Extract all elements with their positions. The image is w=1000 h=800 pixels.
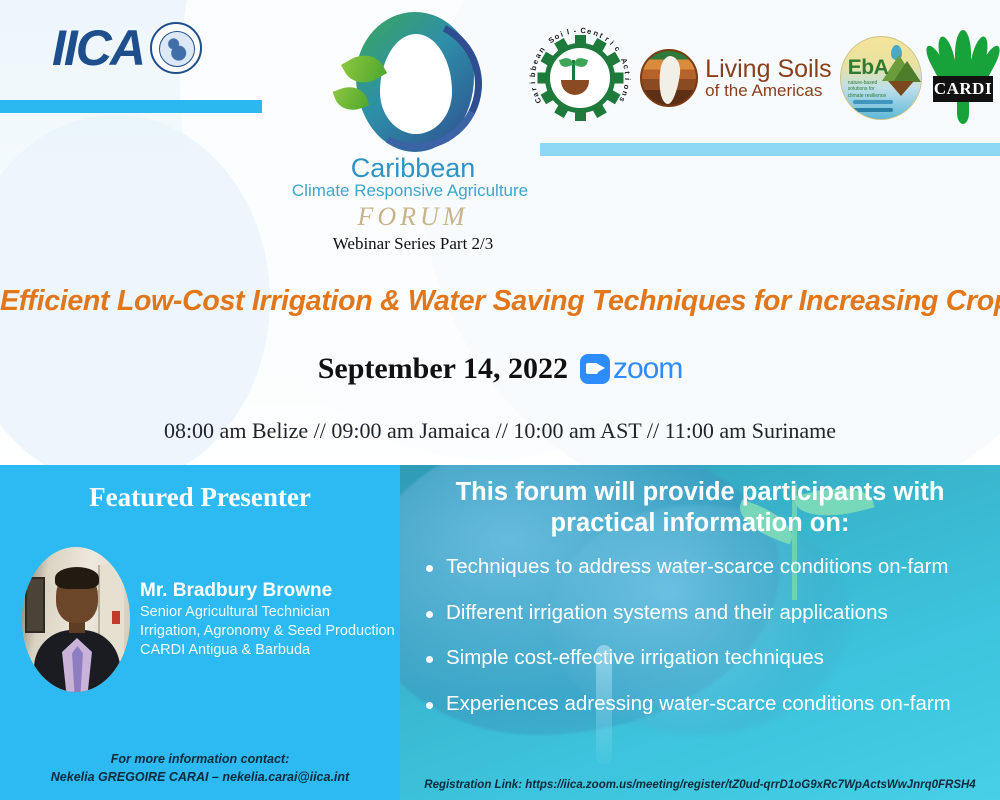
water-drop-leaf-icon bbox=[328, 8, 498, 158]
presenter-name: Mr. Bradbury Browne bbox=[140, 579, 395, 603]
partner-logo-eba: EbA nature-based solutions for climate r… bbox=[840, 36, 922, 120]
zoom-video-icon bbox=[580, 354, 610, 384]
contact-block: For more information contact: Nekelia GR… bbox=[0, 750, 400, 786]
page-title: Efficient Low-Cost Irrigation & Water Sa… bbox=[0, 285, 1000, 318]
presenter-section-heading: Featured Presenter bbox=[0, 482, 400, 513]
forum-logo-line3: FORUM bbox=[288, 201, 538, 232]
presenter-title: Senior Agricultural Technician bbox=[140, 603, 395, 622]
list-item: Simple cost-effective irrigation techniq… bbox=[422, 646, 994, 671]
forum-logo-line1: Caribbean bbox=[288, 154, 538, 182]
forum-logo: Caribbean Climate Responsive Agriculture… bbox=[288, 8, 538, 254]
iica-logo: IICA bbox=[52, 22, 202, 74]
list-item: Experiences adressing water-scarce condi… bbox=[422, 692, 994, 717]
eba-tagline: nature-based solutions for climate resil… bbox=[848, 80, 888, 99]
eba-wordmark: EbA bbox=[848, 56, 889, 80]
webinar-flyer: IICA Caribbean Climate Responsive Agricu… bbox=[0, 0, 1000, 800]
presenter-body: Mr. Bradbury Browne Senior Agricultural … bbox=[22, 547, 395, 692]
accent-bar-right bbox=[540, 143, 1000, 156]
iica-wordmark: IICA bbox=[52, 23, 144, 73]
partner-logo-caribbean-soil-centric-actions: Caribbean Soil-Centric Actions bbox=[528, 26, 632, 130]
info-panel: This forum will provide participants wit… bbox=[400, 465, 1000, 800]
list-item: Different irrigation systems and their a… bbox=[422, 601, 994, 626]
presenter-specialty: Irrigation, Agronomy & Seed Production bbox=[140, 622, 395, 641]
living-soils-line1: Living Soils bbox=[705, 57, 831, 83]
living-soils-line2: of the Americas bbox=[705, 82, 831, 99]
accent-bar-left bbox=[0, 100, 262, 113]
avatar bbox=[22, 547, 130, 692]
presenter-panel: Featured Presenter Mr. Bradbury Browne S… bbox=[0, 465, 400, 800]
partner-circular-text: Caribbean Soil-Centric Actions bbox=[528, 26, 632, 130]
event-date: September 14, 2022 bbox=[318, 352, 568, 386]
presenter-affiliation: CARDI Antigua & Barbuda bbox=[140, 641, 395, 660]
partner-logo-living-soils: Living Soils of the Americas bbox=[640, 49, 831, 107]
partner-logos: Caribbean Soil-Centric Actions Living So… bbox=[528, 22, 996, 134]
presenter-info: Mr. Bradbury Browne Senior Agricultural … bbox=[140, 579, 395, 660]
event-date-row: September 14, 2022 zoom bbox=[0, 352, 1000, 386]
info-bullet-list: Techniques to address water-scarce condi… bbox=[400, 555, 1000, 716]
contact-label: For more information contact: bbox=[0, 750, 400, 768]
list-item: Techniques to address water-scarce condi… bbox=[422, 555, 994, 580]
zoom-wordmark: zoom bbox=[613, 352, 682, 386]
registration-link[interactable]: Registration Link: https://iica.zoom.us/… bbox=[400, 779, 1000, 791]
info-heading: This forum will provide participants wit… bbox=[400, 465, 1000, 539]
forum-logo-subtitle: Webinar Series Part 2/3 bbox=[288, 234, 538, 254]
globe-icon bbox=[150, 22, 202, 74]
cardi-wordmark: CARDI bbox=[933, 76, 993, 102]
event-times: 08:00 am Belize // 09:00 am Jamaica // 1… bbox=[0, 418, 1000, 444]
soil-layers-americas-icon bbox=[640, 49, 698, 107]
partner-logo-cardi: CARDI bbox=[930, 30, 996, 126]
contact-person[interactable]: Nekelia GREGOIRE CARAI – nekelia.carai@i… bbox=[0, 768, 400, 786]
zoom-logo: zoom bbox=[580, 352, 682, 386]
forum-logo-line2: Climate Responsive Agriculture bbox=[282, 182, 538, 201]
